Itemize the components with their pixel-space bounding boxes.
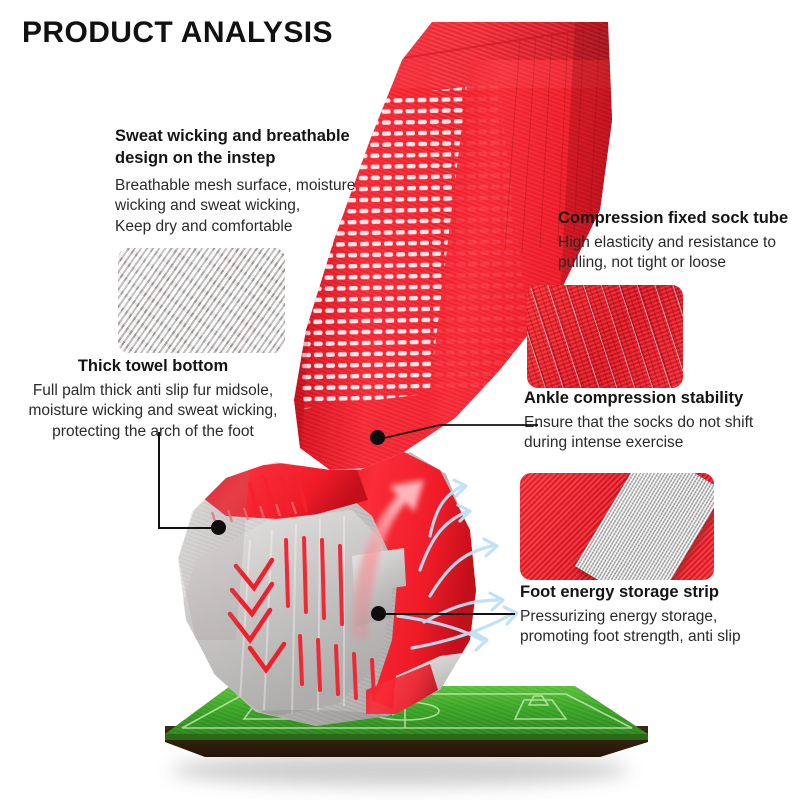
feature-compression-tube-body-line2: pulling, not tight or loose bbox=[558, 254, 726, 271]
feature-instep-body: Breathable mesh surface, moisture wickin… bbox=[115, 176, 365, 237]
feature-towel-bottom-heading: Thick towel bottom bbox=[8, 356, 298, 378]
feature-ankle-stability: Ankle compression stability Ensure that … bbox=[524, 388, 792, 454]
leader-line-ankle-stability bbox=[370, 415, 540, 455]
feature-energy-strip-body-line1: Pressurizing energy storage, bbox=[520, 608, 717, 625]
energy-strip-detail bbox=[575, 473, 714, 580]
feature-energy-strip-heading: Foot energy storage strip bbox=[520, 582, 798, 604]
towel-knit-grey-swatch bbox=[118, 248, 285, 353]
feature-instep: Sweat wicking and breathable design on t… bbox=[115, 126, 365, 237]
feature-compression-tube-body-line1: High elasticity and resistance to bbox=[558, 234, 776, 251]
feature-energy-strip-body: Pressurizing energy storage, promoting f… bbox=[520, 607, 798, 648]
feature-towel-bottom-body-line3: protecting the arch of the foot bbox=[52, 423, 254, 440]
feature-towel-bottom: Thick towel bottom Full palm thick anti … bbox=[8, 356, 298, 442]
feature-instep-body-line1: Breathable mesh surface, moisture bbox=[115, 177, 355, 194]
product-analysis-infographic: PRODUCT ANALYSIS Sweat wicking and breat… bbox=[0, 0, 800, 800]
feature-towel-bottom-body: Full palm thick anti slip fur midsole, m… bbox=[8, 381, 298, 442]
feature-compression-tube-body: High elasticity and resistance to pullin… bbox=[558, 233, 800, 274]
red-rib-swatch-tube bbox=[527, 285, 683, 388]
feature-ankle-stability-body: Ensure that the socks do not shift durin… bbox=[524, 413, 792, 454]
feature-towel-bottom-body-line1: Full palm thick anti slip fur midsole, bbox=[33, 382, 273, 399]
feature-ankle-stability-body-line2: during intense exercise bbox=[524, 434, 683, 451]
leader-line-energy-strip bbox=[378, 613, 515, 615]
page-title: PRODUCT ANALYSIS bbox=[22, 16, 333, 50]
feature-instep-body-line3: Keep dry and comfortable bbox=[115, 218, 293, 235]
feature-ankle-stability-heading: Ankle compression stability bbox=[524, 388, 792, 410]
feature-compression-tube-heading: Compression fixed sock tube bbox=[558, 208, 800, 230]
callout-dot-towel-bottom bbox=[211, 520, 226, 535]
feature-instep-body-line2: wicking and sweat wicking, bbox=[115, 197, 300, 214]
feature-instep-heading: Sweat wicking and breathable design on t… bbox=[115, 126, 365, 170]
feature-instep-heading-line2: design on the instep bbox=[115, 149, 275, 167]
feature-towel-bottom-body-line2: moisture wicking and sweat wicking, bbox=[29, 402, 278, 419]
feature-energy-strip-body-line2: promoting foot strength, anti slip bbox=[520, 628, 741, 645]
red-grey-strip-swatch bbox=[520, 473, 714, 580]
feature-instep-heading-line1: Sweat wicking and breathable bbox=[115, 127, 350, 145]
leader-line-towel-bottom-vertical bbox=[158, 432, 160, 528]
feature-compression-tube: Compression fixed sock tube High elastic… bbox=[558, 208, 800, 274]
callout-dot-energy-strip bbox=[371, 606, 386, 621]
leader-line-towel-bottom-horizontal bbox=[158, 527, 216, 529]
feature-ankle-stability-body-line1: Ensure that the socks do not shift bbox=[524, 414, 753, 431]
feature-energy-strip: Foot energy storage strip Pressurizing e… bbox=[520, 582, 798, 648]
callout-dot-ankle-stability bbox=[370, 430, 385, 445]
